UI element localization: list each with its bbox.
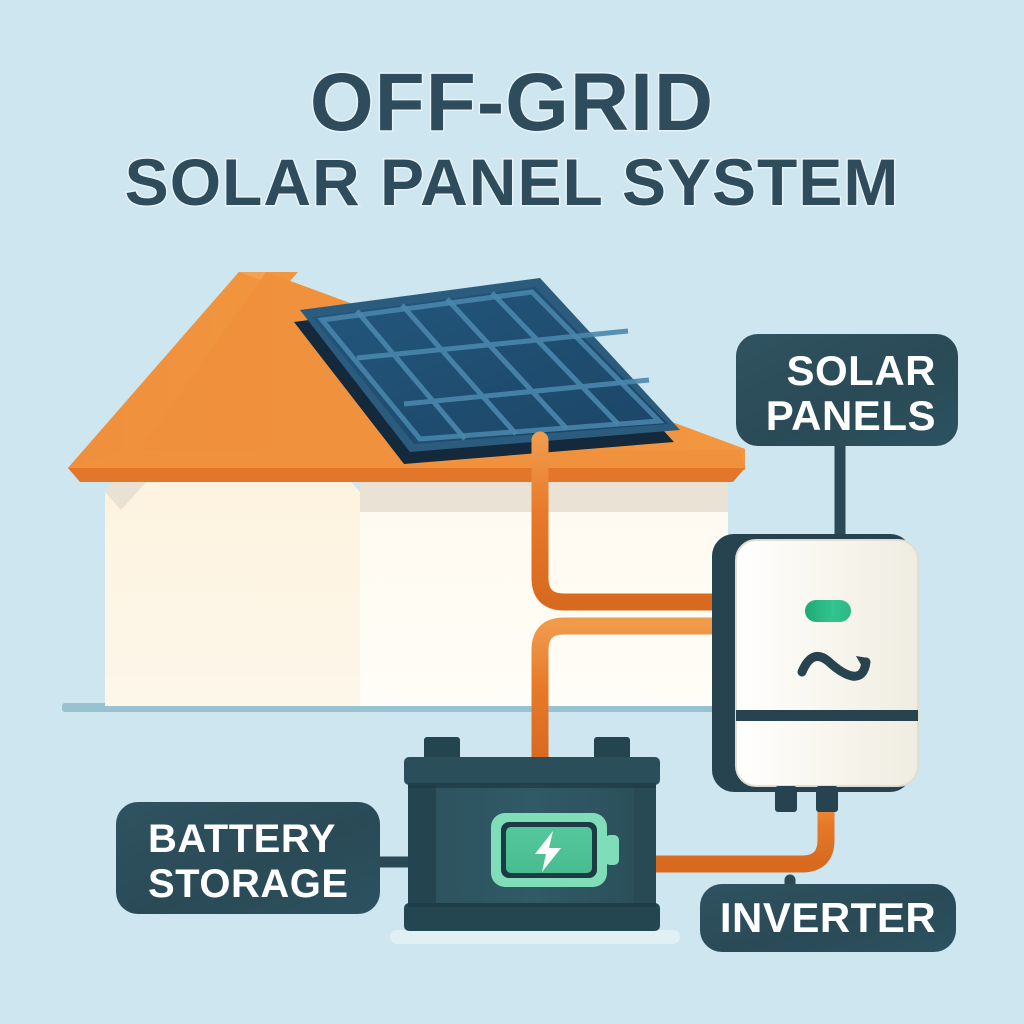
badge-inverter-line-1: INVERTER	[720, 894, 936, 941]
roof-fascia	[68, 468, 745, 482]
battery-bottom-rim	[404, 903, 660, 931]
badge-solar-panels-line-2: PANELS	[766, 392, 936, 439]
inverter-band	[736, 710, 918, 721]
badge-battery-storage-line-2: STORAGE	[148, 862, 349, 906]
battery-shadow	[390, 930, 680, 944]
battery-top-rim	[404, 757, 660, 785]
battery-top-rim-line	[408, 783, 656, 788]
battery	[390, 737, 680, 944]
inverter-connector-left	[775, 786, 797, 812]
title-line-1: OFF-GRID	[310, 57, 714, 148]
battery-level-icon	[491, 813, 619, 887]
badge-battery-storage-line-1: BATTERY	[148, 817, 336, 861]
label-battery-storage[interactable]: BATTERY STORAGE	[116, 802, 380, 914]
inverter-led[interactable]	[805, 600, 851, 622]
inverter-connector-right	[816, 786, 838, 812]
badge-solar-panels-line-1: SOLAR	[787, 347, 937, 394]
illustration-canvas: OFF-GRID SOLAR PANEL SYSTEM	[0, 0, 1024, 1024]
label-inverter[interactable]: INVERTER	[700, 884, 956, 952]
battery-icon-nub	[605, 835, 619, 865]
label-solar-panels[interactable]: SOLAR PANELS	[736, 334, 958, 446]
inverter	[712, 534, 918, 812]
title-line-2: SOLAR PANEL SYSTEM	[125, 145, 900, 219]
battery-bottom-rim-line	[408, 903, 656, 907]
